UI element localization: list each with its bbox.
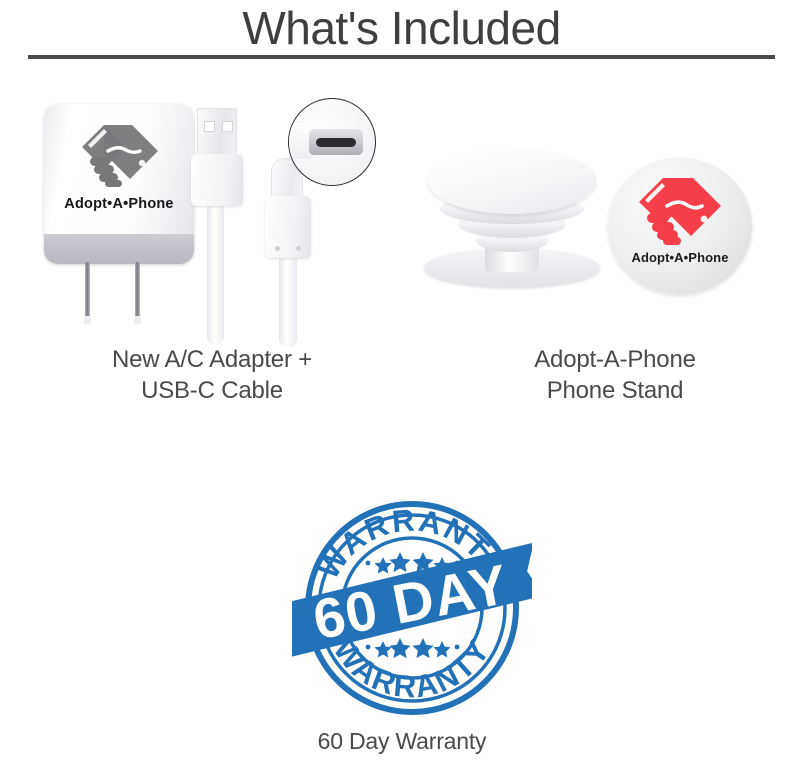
usb-a-connector-icon [197,108,237,158]
stand-caption-line2: Phone Stand [470,375,760,406]
adapter-brand-text: Adopt•A•Phone [44,196,194,212]
warranty-stamp: WARRANTY WARRANTY [292,497,532,719]
phone-grip-image [424,148,600,288]
adapter-body: Adopt•A•Phone [44,104,194,264]
warranty-caption-line1: 60 Day Warranty [252,726,552,757]
warranty-badge-image: WARRANTY WARRANTY [292,497,532,719]
handshake-icon [74,121,166,187]
adapter-base-band [44,234,194,264]
grip-top-cap [428,148,596,214]
inset-usb-c-tip [309,129,363,155]
charger-caption-line2: USB-C Cable [36,375,388,406]
logo-disc-image: Adopt•A•Phone [608,158,756,298]
charger-caption-line1: New A/C Adapter + [36,344,388,375]
plug-prong-right [135,262,140,320]
ac-adapter-image: Adopt•A•Phone [44,104,204,334]
usb-c-zoom-inset [288,98,376,186]
cable-cord-left [207,200,224,345]
usb-c-housing [265,196,311,258]
stand-caption-line1: Adopt-A-Phone [470,344,760,375]
usb-c-cable-image [185,100,385,340]
phone-stand-caption: Adopt-A-Phone Phone Stand [470,344,760,406]
charger-caption: New A/C Adapter + USB-C Cable [36,344,388,406]
usb-a-housing [191,154,243,206]
page-title: What's Included [0,2,803,54]
cable-cord-right [279,252,297,347]
handshake-icon [630,174,730,246]
badge-stars-bottom [366,638,460,658]
plug-prong-left [85,262,90,320]
warranty-caption: 60 Day Warranty [252,726,552,757]
whats-included-page: What's Included [0,0,803,777]
title-divider [28,55,775,59]
logo-disc: Adopt•A•Phone [608,158,752,294]
disc-brand-text: Adopt•A•Phone [608,250,752,265]
